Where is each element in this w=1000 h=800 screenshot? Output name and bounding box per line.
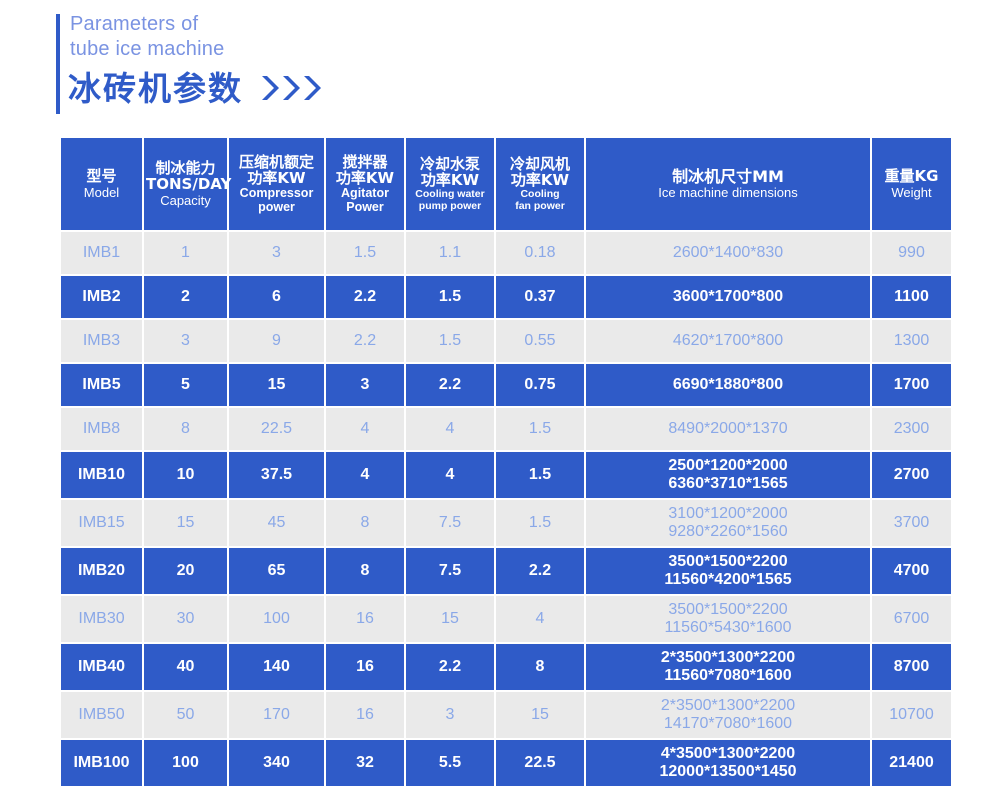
cell-fan: 4 (496, 596, 584, 642)
column-header-model: 型号 Model (61, 138, 142, 230)
cell-fan: 0.55 (496, 320, 584, 362)
cell-fan: 8 (496, 644, 584, 690)
cell-compressor: 9 (229, 320, 324, 362)
cell-weight: 1700 (872, 364, 951, 406)
cell-dimensions: 3500*1500*2200 11560*4200*1565 (586, 548, 870, 594)
table-row: IMB8822.5441.58490*2000*13702300 (61, 408, 951, 450)
cell-weight: 10700 (872, 692, 951, 738)
column-header-agitator-cn: 搅拌器 功率KW (328, 154, 402, 186)
cell-dimensions: 3500*1500*2200 11560*5430*1600 (586, 596, 870, 642)
cell-dimensions: 3600*1700*800 (586, 276, 870, 318)
cell-fan: 22.5 (496, 740, 584, 786)
cell-model: IMB5 (61, 364, 142, 406)
cell-compressor: 6 (229, 276, 324, 318)
column-header-fan-cn: 冷却风机 功率KW (498, 156, 582, 188)
cell-agitator: 2.2 (326, 276, 404, 318)
cell-model: IMB3 (61, 320, 142, 362)
cell-capacity: 5 (144, 364, 227, 406)
cell-weight: 6700 (872, 596, 951, 642)
cell-dimensions: 8490*2000*1370 (586, 408, 870, 450)
cell-pump: 4 (406, 408, 494, 450)
page-heading: Parameters of tube ice machine 冰砖机参数 (56, 12, 476, 116)
cell-fan: 2.2 (496, 548, 584, 594)
cell-model: IMB1 (61, 232, 142, 274)
cell-pump: 2.2 (406, 644, 494, 690)
cell-agitator: 16 (326, 644, 404, 690)
cell-pump: 15 (406, 596, 494, 642)
cell-fan: 1.5 (496, 452, 584, 498)
cell-model: IMB40 (61, 644, 142, 690)
table-row: IMB5050170163152*3500*1300*2200 14170*70… (61, 692, 951, 738)
cell-capacity: 1 (144, 232, 227, 274)
cell-dimensions: 2500*1200*2000 6360*3710*1565 (586, 452, 870, 498)
cell-pump: 7.5 (406, 500, 494, 546)
cell-pump: 3 (406, 692, 494, 738)
cell-compressor: 170 (229, 692, 324, 738)
cell-fan: 0.75 (496, 364, 584, 406)
table-row: IMB15154587.51.53100*1200*2000 9280*2260… (61, 500, 951, 546)
cell-pump: 5.5 (406, 740, 494, 786)
column-header-pump-cn: 冷却水泵 功率KW (408, 156, 492, 188)
cell-weight: 1100 (872, 276, 951, 318)
table-body: IMB1131.51.10.182600*1400*830990IMB2262.… (61, 232, 951, 786)
cell-agitator: 8 (326, 548, 404, 594)
cell-agitator: 16 (326, 596, 404, 642)
cell-agitator: 2.2 (326, 320, 404, 362)
cell-weight: 990 (872, 232, 951, 274)
column-header-weight-cn: 重量KG (874, 168, 949, 184)
column-header-agitator-en: Agitator Power (328, 187, 402, 214)
double-chevron-right-icon (259, 73, 321, 103)
table-row: IMB551532.20.756690*1880*8001700 (61, 364, 951, 406)
cell-model: IMB10 (61, 452, 142, 498)
cell-compressor: 340 (229, 740, 324, 786)
cell-capacity: 8 (144, 408, 227, 450)
cell-capacity: 15 (144, 500, 227, 546)
column-header-model-cn: 型号 (63, 168, 140, 184)
cell-compressor: 15 (229, 364, 324, 406)
cell-agitator: 4 (326, 452, 404, 498)
column-header-pump-en: Cooling water pump power (408, 189, 492, 212)
cell-capacity: 50 (144, 692, 227, 738)
column-header-capacity-cn: 制冰能力 TONS/DAY (146, 160, 225, 192)
cell-model: IMB50 (61, 692, 142, 738)
table-row: IMB1131.51.10.182600*1400*830990 (61, 232, 951, 274)
table-row: IMB20206587.52.23500*1500*2200 11560*420… (61, 548, 951, 594)
table-row: IMB3030100161543500*1500*2200 11560*5430… (61, 596, 951, 642)
column-header-compressor: 压缩机额定 功率KW Compressor power (229, 138, 324, 230)
cell-model: IMB2 (61, 276, 142, 318)
cell-capacity: 40 (144, 644, 227, 690)
cell-capacity: 30 (144, 596, 227, 642)
column-header-compressor-en: Compressor power (231, 187, 322, 214)
heading-accent-bar (56, 14, 60, 114)
cell-weight: 8700 (872, 644, 951, 690)
cell-model: IMB30 (61, 596, 142, 642)
cell-capacity: 2 (144, 276, 227, 318)
cell-agitator: 3 (326, 364, 404, 406)
column-header-dimensions: 制冰机尺寸MM Ice machine dimensions (586, 138, 870, 230)
header-row: 型号 Model 制冰能力 TONS/DAY Capacity 压缩机额定 功率… (61, 138, 951, 230)
cell-pump: 7.5 (406, 548, 494, 594)
column-header-fan: 冷却风机 功率KW Cooling fan power (496, 138, 584, 230)
cell-capacity: 10 (144, 452, 227, 498)
table-row: IMB100100340325.522.54*3500*1300*2200 12… (61, 740, 951, 786)
cell-agitator: 4 (326, 408, 404, 450)
cell-compressor: 100 (229, 596, 324, 642)
cell-pump: 2.2 (406, 364, 494, 406)
cell-dimensions: 3100*1200*2000 9280*2260*1560 (586, 500, 870, 546)
cell-weight: 2700 (872, 452, 951, 498)
cell-fan: 1.5 (496, 408, 584, 450)
cell-model: IMB15 (61, 500, 142, 546)
cell-compressor: 37.5 (229, 452, 324, 498)
table-row: IMB4040140162.282*3500*1300*2200 11560*7… (61, 644, 951, 690)
cell-dimensions: 4*3500*1300*2200 12000*13500*1450 (586, 740, 870, 786)
column-header-compressor-cn: 压缩机额定 功率KW (231, 154, 322, 186)
cell-fan: 15 (496, 692, 584, 738)
cell-weight: 3700 (872, 500, 951, 546)
cell-capacity: 100 (144, 740, 227, 786)
cell-capacity: 20 (144, 548, 227, 594)
cell-pump: 4 (406, 452, 494, 498)
page-title: 冰砖机参数 (68, 69, 243, 109)
column-header-model-en: Model (63, 186, 140, 200)
cell-fan: 1.5 (496, 500, 584, 546)
cell-pump: 1.1 (406, 232, 494, 274)
column-header-weight: 重量KG Weight (872, 138, 951, 230)
cell-agitator: 8 (326, 500, 404, 546)
column-header-weight-en: Weight (874, 186, 949, 200)
cell-dimensions: 2*3500*1300*2200 11560*7080*1600 (586, 644, 870, 690)
column-header-agitator: 搅拌器 功率KW Agitator Power (326, 138, 404, 230)
cell-dimensions: 4620*1700*800 (586, 320, 870, 362)
cell-agitator: 32 (326, 740, 404, 786)
column-header-capacity-en: Capacity (146, 194, 225, 208)
cell-weight: 2300 (872, 408, 951, 450)
column-header-pump: 冷却水泵 功率KW Cooling water pump power (406, 138, 494, 230)
cell-fan: 0.18 (496, 232, 584, 274)
cell-pump: 1.5 (406, 320, 494, 362)
heading-english-subtitle: Parameters of tube ice machine (70, 12, 224, 62)
table-header: 型号 Model 制冰能力 TONS/DAY Capacity 压缩机额定 功率… (61, 138, 951, 230)
cell-compressor: 3 (229, 232, 324, 274)
cell-agitator: 16 (326, 692, 404, 738)
column-header-dimensions-cn: 制冰机尺寸MM (588, 168, 868, 185)
column-header-dimensions-en: Ice machine dimensions (588, 186, 868, 200)
cell-agitator: 1.5 (326, 232, 404, 274)
cell-weight: 21400 (872, 740, 951, 786)
column-header-fan-en: Cooling fan power (498, 189, 582, 212)
cell-model: IMB100 (61, 740, 142, 786)
cell-dimensions: 6690*1880*800 (586, 364, 870, 406)
column-header-capacity: 制冰能力 TONS/DAY Capacity (144, 138, 227, 230)
cell-fan: 0.37 (496, 276, 584, 318)
table-row: IMB3392.21.50.554620*1700*8001300 (61, 320, 951, 362)
table-row: IMB2262.21.50.373600*1700*8001100 (61, 276, 951, 318)
cell-pump: 1.5 (406, 276, 494, 318)
cell-compressor: 45 (229, 500, 324, 546)
cell-model: IMB20 (61, 548, 142, 594)
cell-dimensions: 2600*1400*830 (586, 232, 870, 274)
cell-capacity: 3 (144, 320, 227, 362)
cell-model: IMB8 (61, 408, 142, 450)
cell-weight: 4700 (872, 548, 951, 594)
cell-compressor: 22.5 (229, 408, 324, 450)
cell-compressor: 140 (229, 644, 324, 690)
parameters-table: 型号 Model 制冰能力 TONS/DAY Capacity 压缩机额定 功率… (59, 136, 953, 788)
heading-chinese-row: 冰砖机参数 (68, 69, 321, 109)
cell-dimensions: 2*3500*1300*2200 14170*7080*1600 (586, 692, 870, 738)
cell-weight: 1300 (872, 320, 951, 362)
table-row: IMB101037.5441.52500*1200*2000 6360*3710… (61, 452, 951, 498)
cell-compressor: 65 (229, 548, 324, 594)
